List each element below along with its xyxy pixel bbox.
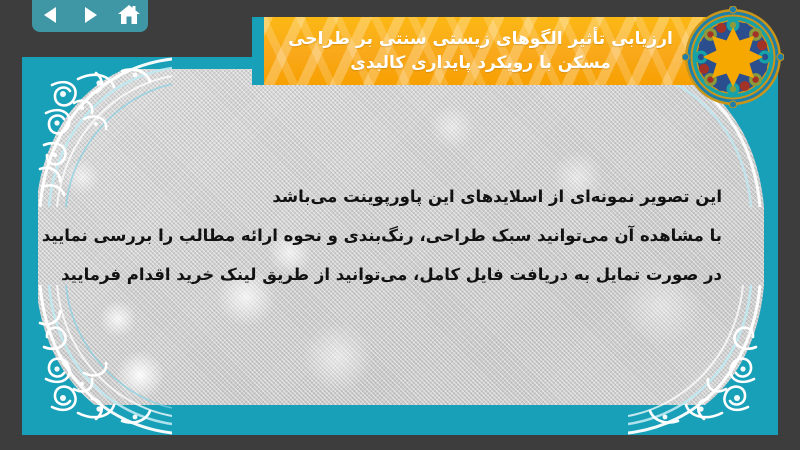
- body-line-1: این تصویر نمونه‌ای از اسلایدهای این پاور…: [82, 185, 722, 210]
- slide-body-text: این تصویر نمونه‌ای از اسلایدهای این پاور…: [82, 185, 722, 287]
- page-title-line-1: ارزیابی تأثیر الگوهای زیستی سنتی بر طراح…: [288, 27, 673, 51]
- frame-edge-right: [764, 57, 778, 435]
- body-line-2: با مشاهده آن می‌توانید سبک طراحی، رنگ‌بن…: [82, 224, 722, 249]
- persian-medallion-ornament: [682, 6, 784, 108]
- left-arrow-icon: [40, 5, 62, 25]
- right-arrow-icon: [79, 5, 101, 25]
- slide-navigation-toolbar: [32, 0, 148, 32]
- next-slide-button[interactable]: [77, 3, 103, 27]
- body-line-3: در صورت تمایل به دریافت فایل کامل، می‌تو…: [82, 263, 722, 288]
- frame-edge-bottom: [22, 405, 778, 435]
- page-title-line-2: مسکن با رویکرد پایداری کالبدی: [350, 51, 611, 75]
- slide-title-banner: ارزیابی تأثیر الگوهای زیستی سنتی بر طراح…: [262, 17, 717, 85]
- slide-frame: این تصویر نمونه‌ای از اسلایدهای این پاور…: [22, 57, 778, 435]
- frame-edge-left: [22, 57, 38, 435]
- home-button[interactable]: [116, 3, 142, 27]
- presentation-viewer: این تصویر نمونه‌ای از اسلایدهای این پاور…: [0, 0, 800, 450]
- previous-slide-button[interactable]: [38, 3, 64, 27]
- home-icon: [117, 4, 141, 26]
- banner-accent-tab: [252, 17, 264, 85]
